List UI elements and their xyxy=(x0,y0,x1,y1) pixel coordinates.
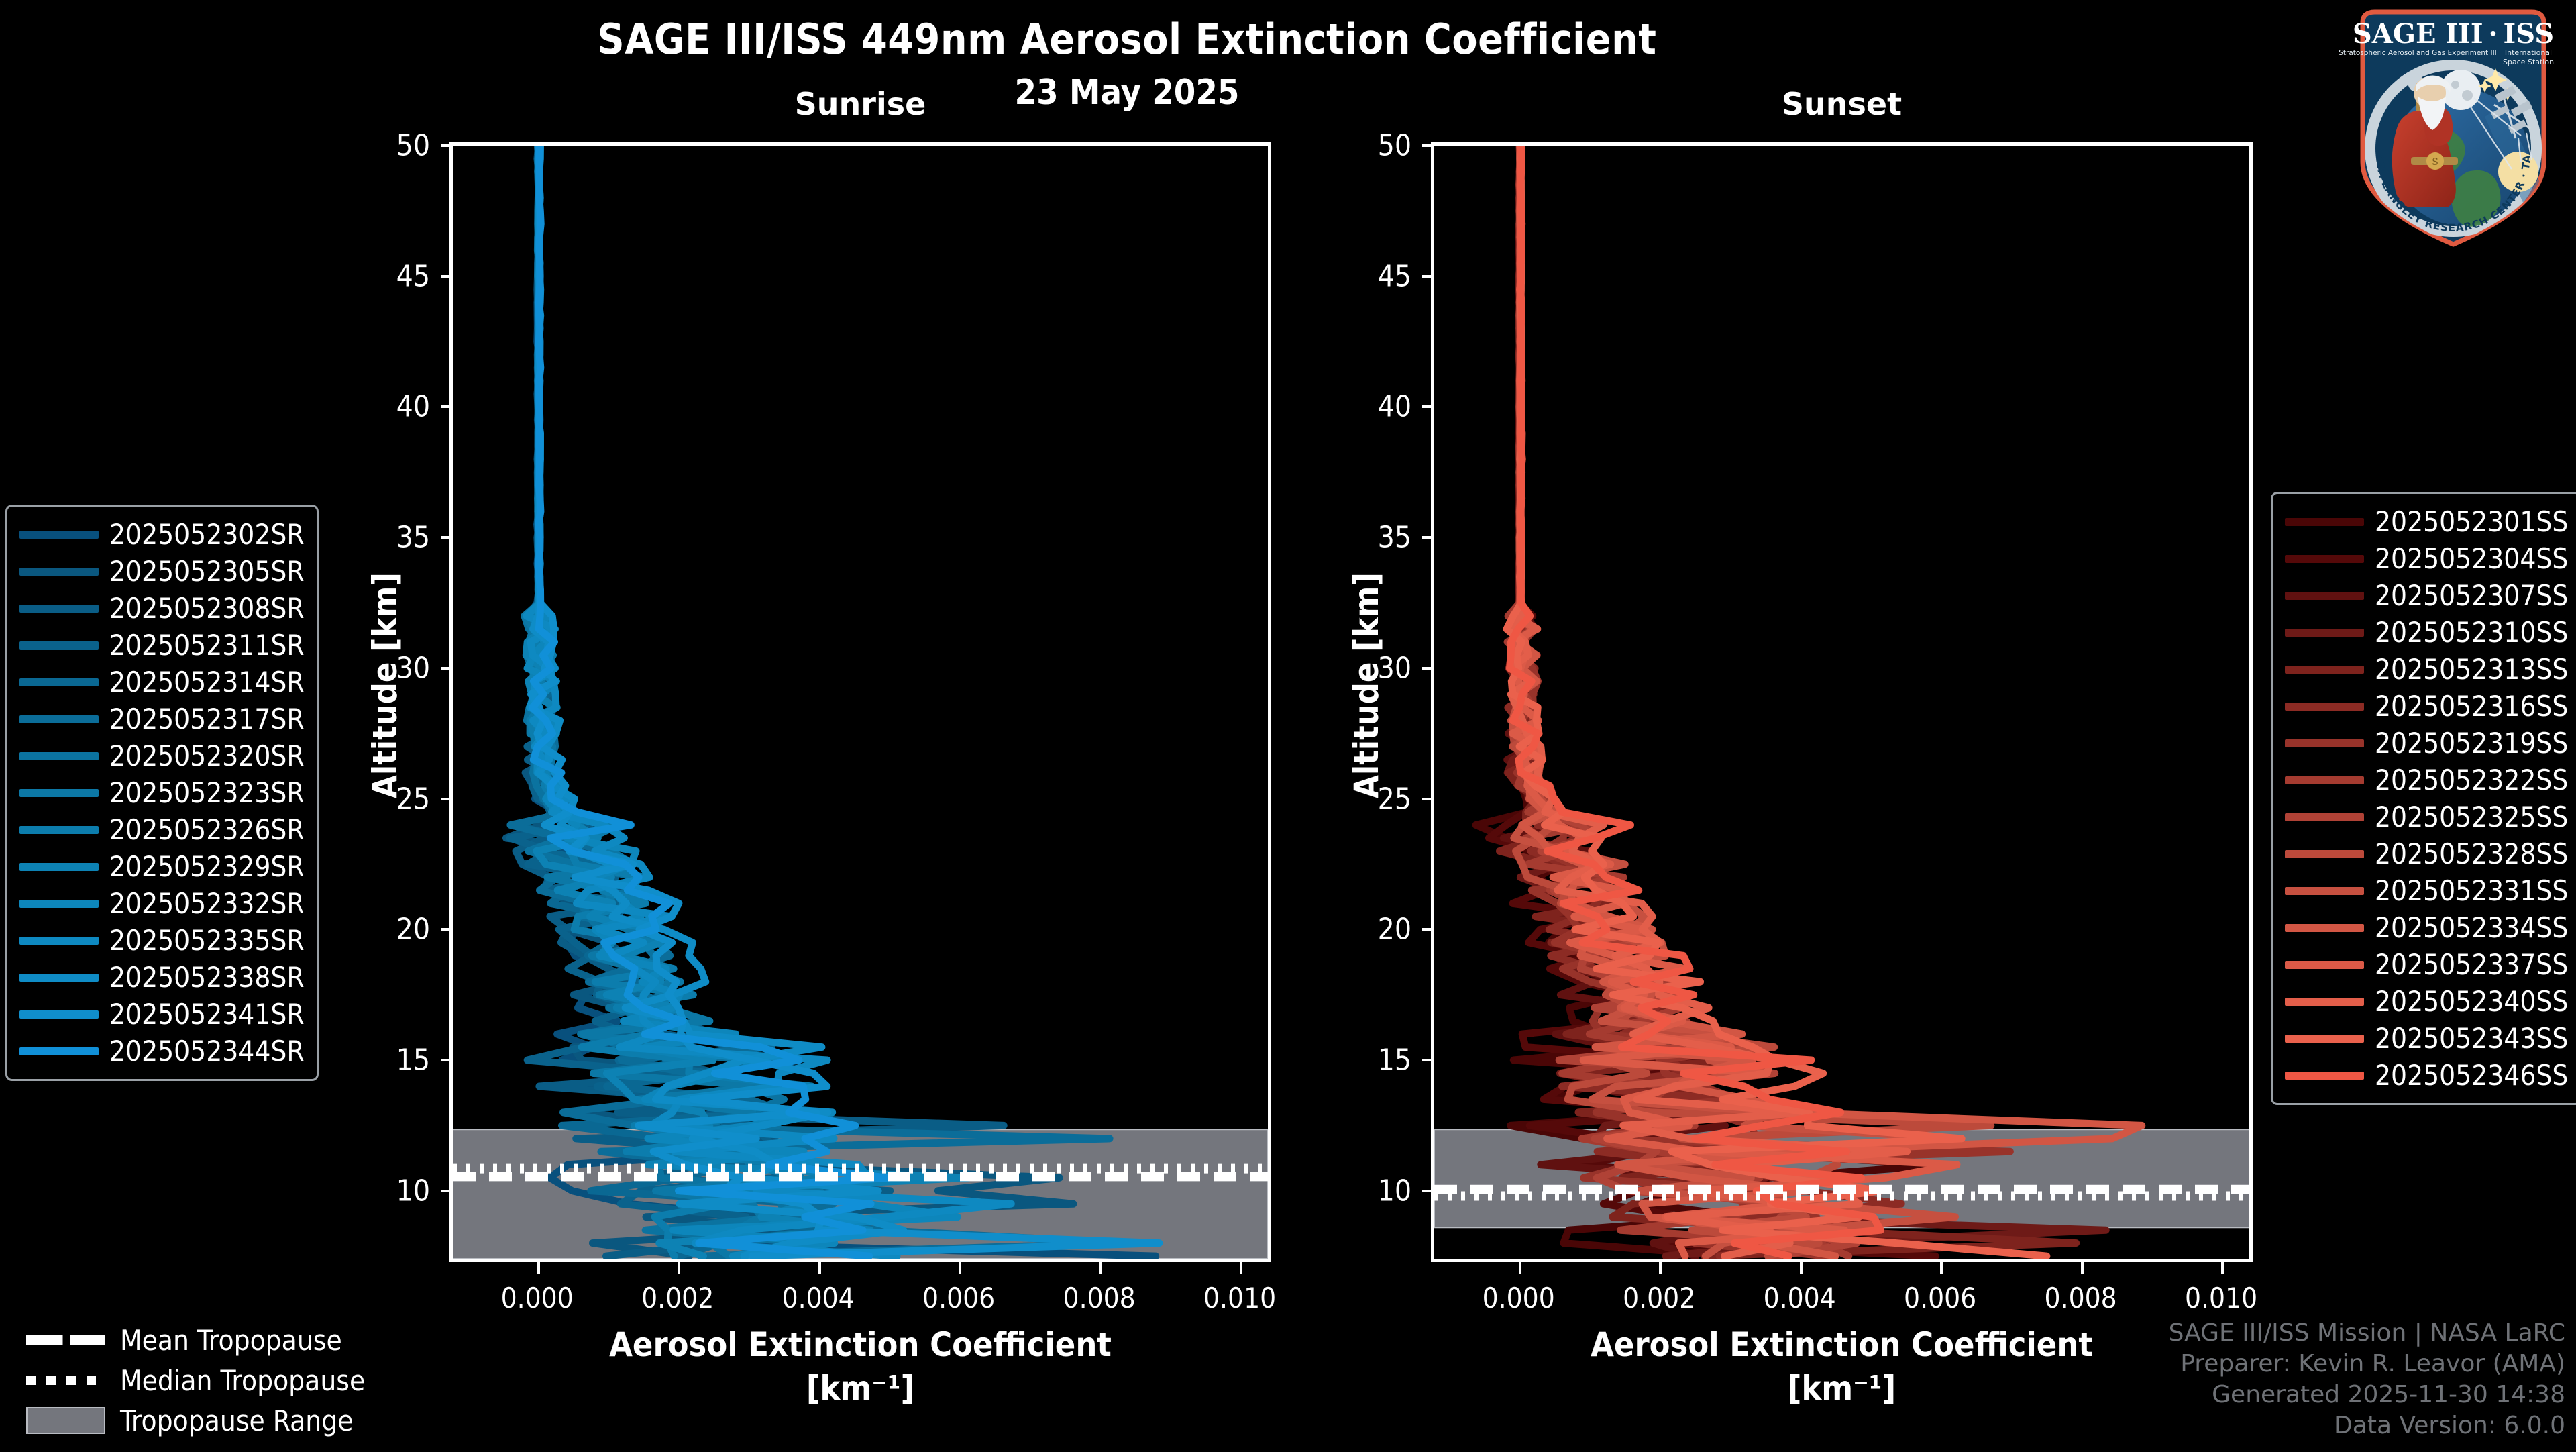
sunset-xtick-label: 0.004 xyxy=(1764,1282,1836,1314)
legend-item-2025052343SS[interactable]: 2025052343SS xyxy=(2285,1020,2568,1057)
sunset-legend-label: 2025052319SS xyxy=(2375,727,2568,760)
sunset-legend-label: 2025052304SS xyxy=(2375,542,2568,575)
legend-color-swatch-icon xyxy=(19,531,99,539)
sunset-plot-area xyxy=(1431,142,2253,1262)
sunset-legend-label: 2025052325SS xyxy=(2375,800,2568,833)
logo-iss-text: ISS xyxy=(2503,18,2554,50)
sunrise-ytick-label: 35 xyxy=(345,521,430,555)
sunset-legend-label: 2025052328SS xyxy=(2375,837,2568,870)
sunrise-legend-label: 2025052341SR xyxy=(109,998,305,1031)
sunrise-ytick-mark xyxy=(441,536,453,539)
legend-item-2025052313SS[interactable]: 2025052313SS xyxy=(2285,651,2568,688)
legend-item-2025052319SS[interactable]: 2025052319SS xyxy=(2285,725,2568,762)
legend-item-2025052316SS[interactable]: 2025052316SS xyxy=(2285,688,2568,725)
legend-color-swatch-icon xyxy=(19,789,99,797)
sunset-xtick-mark xyxy=(1940,1262,1943,1274)
tropopause-legend: Mean Tropopause Median Tropopause Tropop… xyxy=(12,1308,379,1452)
sunrise-ytick-label: 10 xyxy=(345,1174,430,1208)
sunset-ytick-label: 10 xyxy=(1327,1174,1411,1208)
logo-iss-tagline-1: International xyxy=(2505,48,2552,57)
sunset-legend[interactable]: 2025052301SS2025052304SS2025052307SS2025… xyxy=(2271,492,2576,1105)
sunset-legend-label: 2025052301SS xyxy=(2375,505,2568,538)
legend-item-2025052331SS[interactable]: 2025052331SS xyxy=(2285,872,2568,909)
sunset-legend-label: 2025052313SS xyxy=(2375,653,2568,686)
sunset-legend-label: 2025052346SS xyxy=(2375,1059,2568,1092)
footer-line-generated: Generated 2025-11-30 14:38 xyxy=(2169,1380,2565,1410)
legend-color-swatch-icon xyxy=(2285,813,2364,821)
sunrise-legend-label: 2025052314SR xyxy=(109,666,305,698)
dashed-line-icon xyxy=(26,1335,105,1345)
legend-item-2025052337SS[interactable]: 2025052337SS xyxy=(2285,946,2568,983)
legend-color-swatch-icon xyxy=(19,605,99,613)
sunset-xtick-mark xyxy=(2221,1262,2224,1274)
legend-color-swatch-icon xyxy=(19,641,99,650)
sunset-legend-label: 2025052316SS xyxy=(2375,690,2568,723)
legend-color-swatch-icon xyxy=(2285,776,2364,784)
sunrise-xtick-label: 0.010 xyxy=(1203,1282,1276,1314)
sunrise-legend-label: 2025052329SR xyxy=(109,850,305,883)
legend-item-2025052340SS[interactable]: 2025052340SS xyxy=(2285,983,2568,1020)
logo-dot: · xyxy=(2489,18,2498,50)
sunrise-ytick-label: 45 xyxy=(345,259,430,293)
logo-title-text: SAGE III·ISS xyxy=(2353,18,2554,50)
legend-color-swatch-icon xyxy=(19,863,99,871)
legend-color-swatch-icon xyxy=(2285,887,2364,895)
legend-item-2025052305SR[interactable]: 2025052305SR xyxy=(19,553,305,590)
sunset-xaxis-units: [km⁻¹] xyxy=(1431,1369,2253,1408)
legend-item-tropopause-range: Tropopause Range xyxy=(26,1400,365,1441)
page-title: SAGE III/ISS 449nm Aerosol Extinction Co… xyxy=(0,15,2254,64)
legend-color-swatch-icon xyxy=(2285,703,2364,711)
sunset-ytick-mark xyxy=(1422,275,1434,278)
legend-color-swatch-icon xyxy=(2285,850,2364,858)
sunset-xtick-mark xyxy=(1800,1262,1803,1274)
legend-item-2025052346SS[interactable]: 2025052346SS xyxy=(2285,1057,2568,1094)
sunset-ytick-label: 15 xyxy=(1327,1043,1411,1078)
sunrise-xtick-mark xyxy=(818,1262,821,1274)
sunrise-legend-label: 2025052344SR xyxy=(109,1035,305,1068)
sunset-ytick-mark xyxy=(1422,1059,1434,1061)
sunset-xtick-label: 0.008 xyxy=(2045,1282,2117,1314)
sunrise-ytick-mark xyxy=(441,144,453,147)
sunrise-legend-label: 2025052332SR xyxy=(109,887,305,920)
sunrise-legend-label: 2025052335SR xyxy=(109,924,305,957)
legend-color-swatch-icon xyxy=(19,678,99,686)
sunrise-legend-label: 2025052317SR xyxy=(109,703,305,735)
sunset-xaxis-title: Aerosol Extinction Coefficient xyxy=(1431,1325,2253,1364)
legend-color-swatch-icon xyxy=(19,1010,99,1019)
sunrise-ytick-label: 20 xyxy=(345,913,430,947)
legend-color-swatch-icon xyxy=(2285,998,2364,1006)
sunset-ytick-label: 45 xyxy=(1327,259,1411,293)
sunrise-legend-label: 2025052320SR xyxy=(109,739,305,772)
legend-color-swatch-icon xyxy=(19,900,99,908)
sunset-ytick-mark xyxy=(1422,798,1434,800)
sunrise-xtick-label: 0.004 xyxy=(782,1282,855,1314)
legend-item-2025052332SR[interactable]: 2025052332SR xyxy=(19,885,305,922)
sunrise-ytick-mark xyxy=(441,928,453,931)
legend-item-2025052311SR[interactable]: 2025052311SR xyxy=(19,627,305,664)
sunrise-legend-label: 2025052323SR xyxy=(109,776,305,809)
legend-color-swatch-icon xyxy=(19,568,99,576)
legend-item-2025052334SS[interactable]: 2025052334SS xyxy=(2285,909,2568,946)
legend-color-swatch-icon xyxy=(19,937,99,945)
sunset-legend-label: 2025052343SS xyxy=(2375,1022,2568,1055)
sunrise-ytick-mark xyxy=(441,405,453,408)
footer-credits: SAGE III/ISS Mission | NASA LaRC Prepare… xyxy=(2169,1318,2565,1441)
legend-color-swatch-icon xyxy=(2285,592,2364,600)
sunrise-xtick-mark xyxy=(1240,1262,1242,1274)
legend-item-2025052308SR[interactable]: 2025052308SR xyxy=(19,590,305,627)
dotted-line-icon xyxy=(26,1376,105,1385)
sunrise-panel-title: Sunrise xyxy=(449,86,1271,122)
logo-tagline: Stratospheric Aerosol and Gas Experiment… xyxy=(2339,49,2497,57)
sunset-ytick-mark xyxy=(1422,144,1434,147)
filled-band-icon xyxy=(26,1407,105,1434)
legend-color-swatch-icon xyxy=(2285,666,2364,674)
sunset-ytick-label: 50 xyxy=(1327,129,1411,163)
legend-color-swatch-icon xyxy=(2285,518,2364,526)
legend-item-2025052320SR[interactable]: 2025052320SR xyxy=(19,737,305,774)
legend-color-swatch-icon xyxy=(19,1047,99,1055)
legend-item-2025052325SS[interactable]: 2025052325SS xyxy=(2285,798,2568,835)
legend-color-swatch-icon xyxy=(2285,739,2364,747)
sunrise-legend-label: 2025052326SR xyxy=(109,813,305,846)
sunrise-ytick-mark xyxy=(441,1190,453,1192)
legend-color-swatch-icon xyxy=(2285,1072,2364,1080)
legend-color-swatch-icon xyxy=(2285,961,2364,969)
legend-label-tropopause-range: Tropopause Range xyxy=(120,1404,353,1437)
sunrise-xtick-mark xyxy=(1099,1262,1102,1274)
chart-page: SAGE III/ISS 449nm Aerosol Extinction Co… xyxy=(0,0,2576,1449)
sunset-xtick-label: 0.006 xyxy=(1904,1282,1976,1314)
legend-item-2025052304SS[interactable]: 2025052304SS xyxy=(2285,540,2568,577)
sunrise-xtick-mark xyxy=(959,1262,961,1274)
legend-color-swatch-icon xyxy=(2285,1035,2364,1043)
sunset-legend-label: 2025052340SS xyxy=(2375,985,2568,1018)
legend-item-2025052307SS[interactable]: 2025052307SS xyxy=(2285,577,2568,614)
legend-color-swatch-icon xyxy=(19,826,99,834)
sunset-xtick-mark xyxy=(2081,1262,2084,1274)
legend-item-2025052322SS[interactable]: 2025052322SS xyxy=(2285,762,2568,798)
sunset-ytick-label: 20 xyxy=(1327,913,1411,947)
sunset-xtick-label: 0.010 xyxy=(2185,1282,2257,1314)
logo-sage-text: SAGE III xyxy=(2353,18,2483,50)
legend-item-2025052302SR[interactable]: 2025052302SR xyxy=(19,516,305,553)
sunrise-xtick-label: 0.006 xyxy=(922,1282,995,1314)
sunrise-ytick-label: 40 xyxy=(345,390,430,424)
sunset-panel-title: Sunset xyxy=(1431,86,2253,122)
sage-iii-iss-mission-patch-logo: S BALL · NASA LANGLEY RESEARCH CENTER · … xyxy=(2336,4,2571,252)
sunset-legend-label: 2025052337SS xyxy=(2375,948,2568,981)
sunset-legend-label: 2025052331SS xyxy=(2375,874,2568,907)
sunrise-legend-label: 2025052338SR xyxy=(109,961,305,994)
sunrise-yaxis-title: Altitude [km] xyxy=(366,572,405,798)
footer-line-mission: SAGE III/ISS Mission | NASA LaRC xyxy=(2169,1318,2565,1349)
legend-color-swatch-icon xyxy=(19,752,99,760)
sunrise-legend-label: 2025052305SR xyxy=(109,555,305,588)
sunrise-legend[interactable]: 2025052302SR2025052305SR2025052308SR2025… xyxy=(5,505,319,1081)
sunset-ytick-label: 35 xyxy=(1327,521,1411,555)
sunset-xtick-mark xyxy=(1659,1262,1662,1274)
sunset-xtick-label: 0.000 xyxy=(1483,1282,1555,1314)
sunrise-ytick-mark xyxy=(441,1059,453,1061)
legend-item-median-tropopause: Median Tropopause xyxy=(26,1360,365,1400)
sunrise-xtick-label: 0.002 xyxy=(641,1282,714,1314)
legend-item-2025052317SR[interactable]: 2025052317SR xyxy=(19,701,305,737)
sunrise-ytick-label: 50 xyxy=(345,129,430,163)
logo-iss-tagline-2: Space Station xyxy=(2503,58,2554,66)
sunset-legend-label: 2025052307SS xyxy=(2375,579,2568,612)
svg-text:S: S xyxy=(2432,157,2438,168)
footer-line-version: Data Version: 6.0.0 xyxy=(2169,1410,2565,1441)
sunrise-xaxis-units: [km⁻¹] xyxy=(449,1369,1271,1408)
legend-item-2025052328SS[interactable]: 2025052328SS xyxy=(2285,835,2568,872)
legend-color-swatch-icon xyxy=(2285,924,2364,932)
legend-color-swatch-icon xyxy=(19,715,99,723)
sunrise-xtick-mark xyxy=(537,1262,540,1274)
sunset-ytick-mark xyxy=(1422,928,1434,931)
legend-color-swatch-icon xyxy=(2285,629,2364,637)
sunrise-legend-label: 2025052311SR xyxy=(109,629,305,662)
sunset-ytick-mark xyxy=(1422,536,1434,539)
sunrise-ytick-mark xyxy=(441,275,453,278)
sunrise-xaxis-title: Aerosol Extinction Coefficient xyxy=(449,1325,1271,1364)
legend-item-2025052310SS[interactable]: 2025052310SS xyxy=(2285,614,2568,651)
sunset-legend-label: 2025052334SS xyxy=(2375,911,2568,944)
legend-item-mean-tropopause: Mean Tropopause xyxy=(26,1320,365,1360)
sunset-xtick-label: 0.002 xyxy=(1623,1282,1695,1314)
sunrise-xtick-label: 0.008 xyxy=(1063,1282,1136,1314)
sunset-legend-label: 2025052322SS xyxy=(2375,764,2568,796)
sunset-yaxis-title: Altitude [km] xyxy=(1347,572,1386,798)
footer-line-preparer: Preparer: Kevin R. Leavor (AMA) xyxy=(2169,1349,2565,1380)
sunrise-plot-area xyxy=(449,142,1271,1262)
legend-item-2025052326SR[interactable]: 2025052326SR xyxy=(19,811,305,848)
legend-item-2025052335SR[interactable]: 2025052335SR xyxy=(19,922,305,959)
sunrise-xtick-mark xyxy=(678,1262,680,1274)
legend-item-2025052344SR[interactable]: 2025052344SR xyxy=(19,1033,305,1070)
legend-label-median-tropopause: Median Tropopause xyxy=(120,1364,365,1397)
sunset-ytick-mark xyxy=(1422,667,1434,670)
sunrise-ytick-mark xyxy=(441,667,453,670)
legend-item-2025052341SR[interactable]: 2025052341SR xyxy=(19,996,305,1033)
sunset-ytick-mark xyxy=(1422,1190,1434,1192)
sunrise-ytick-label: 15 xyxy=(345,1043,430,1078)
legend-item-2025052329SR[interactable]: 2025052329SR xyxy=(19,848,305,885)
sunrise-legend-label: 2025052308SR xyxy=(109,592,305,625)
legend-label-mean-tropopause: Mean Tropopause xyxy=(120,1324,342,1357)
sunrise-ytick-mark xyxy=(441,798,453,800)
sunrise-legend-label: 2025052302SR xyxy=(109,518,305,551)
sunset-xtick-mark xyxy=(1519,1262,1521,1274)
legend-item-2025052314SR[interactable]: 2025052314SR xyxy=(19,664,305,701)
sunset-ytick-mark xyxy=(1422,405,1434,408)
sunset-legend-label: 2025052310SS xyxy=(2375,616,2568,649)
sunset-ytick-label: 40 xyxy=(1327,390,1411,424)
legend-item-2025052338SR[interactable]: 2025052338SR xyxy=(19,959,305,996)
legend-item-2025052323SR[interactable]: 2025052323SR xyxy=(19,774,305,811)
legend-item-2025052301SS[interactable]: 2025052301SS xyxy=(2285,503,2568,540)
legend-color-swatch-icon xyxy=(19,974,99,982)
sunrise-xtick-label: 0.000 xyxy=(501,1282,574,1314)
legend-color-swatch-icon xyxy=(2285,555,2364,563)
